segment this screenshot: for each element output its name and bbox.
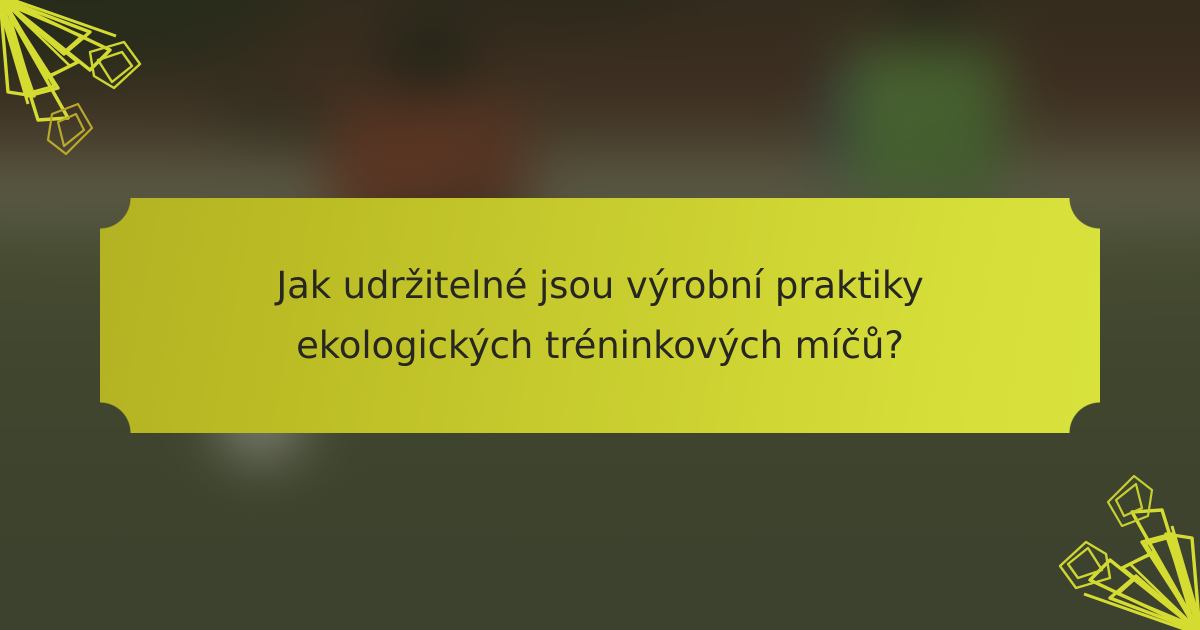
social-card-canvas: Jak udržitelné jsou výrobní praktiky eko… — [0, 0, 1200, 630]
question-title: Jak udržitelné jsou výrobní praktiky eko… — [206, 256, 993, 376]
question-card: Jak udržitelné jsou výrobní praktiky eko… — [100, 198, 1100, 433]
